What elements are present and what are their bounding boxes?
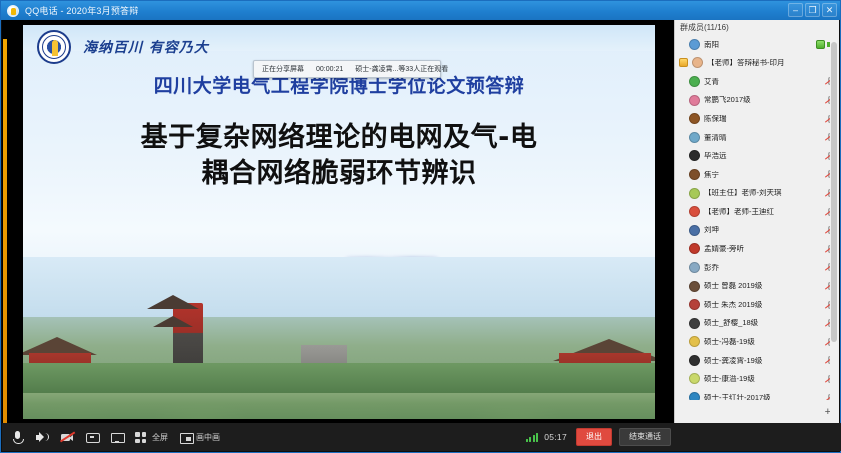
avatar: [689, 132, 700, 143]
member-name: 【老师】老师-王迪红: [704, 208, 821, 216]
avatar: [689, 262, 700, 273]
slide-title-line-2: 耦合网络脆弱环节辨识: [23, 156, 655, 192]
scrollbar-thumb[interactable]: [831, 42, 837, 342]
list-item[interactable]: 南阳: [675, 35, 839, 54]
presentation-icon: [110, 430, 124, 444]
member-name: 硕士-康溢-19级: [704, 375, 821, 383]
speaker-icon: [35, 430, 49, 444]
avatar: [689, 355, 700, 366]
list-item[interactable]: 【老师】老师-王迪红: [675, 202, 839, 221]
avatar: [689, 336, 700, 347]
member-name: 毕浩远: [704, 152, 821, 160]
exit-button[interactable]: 退出: [576, 428, 612, 446]
qq-logo-icon: [7, 5, 19, 17]
list-item[interactable]: 硕士-康溢-19级: [675, 370, 839, 389]
pip-button[interactable]: 画中画: [179, 430, 220, 444]
qq-call-window: QQ电话 - 2020年3月预答辩 – ❐ ✕ 海纳百川 有容乃大 四川大学电气…: [0, 0, 841, 453]
member-list[interactable]: 南阳【老师】答辩秘书-印月艾青常鹏飞2017级陈保瑞董清晴毕浩远焦宁【班主任】老…: [675, 35, 839, 400]
avatar: [689, 206, 700, 217]
member-list-scrollbar[interactable]: [830, 20, 838, 424]
member-name: 常鹏飞2017级: [704, 96, 821, 104]
member-name: 硕士 曾磊 2019级: [704, 282, 821, 290]
avatar: [689, 188, 700, 199]
member-name: 刘坤: [704, 226, 821, 234]
window-controls: – ❐ ✕: [788, 3, 837, 17]
screen-share-active-icon: [816, 40, 825, 49]
member-panel: 群成员(11/16) 南阳【老师】答辩秘书-印月艾青常鹏飞2017级陈保瑞董清晴…: [674, 20, 839, 424]
member-name: 焦宁: [704, 171, 821, 179]
avatar: [689, 39, 700, 50]
member-panel-header: 群成员(11/16): [675, 20, 839, 35]
avatar: [692, 57, 703, 68]
campus-photo: [23, 257, 655, 419]
call-timer: 05:17: [544, 432, 567, 442]
list-item[interactable]: 硕士_舒樱_18级: [675, 314, 839, 333]
screen-share-banner[interactable]: 正在分享屏幕 00:00:21 硕士-龚凌霄...等33人正在观看: [253, 60, 441, 78]
avatar: [689, 318, 700, 329]
list-item[interactable]: 硕士 曾磊 2019级: [675, 277, 839, 296]
camera-off-icon: [60, 430, 74, 444]
list-item[interactable]: 孟婧豪-旁听: [675, 240, 839, 259]
hangup-button[interactable]: 结束通话: [619, 428, 671, 446]
screen-share-border: [3, 39, 7, 424]
fullscreen-grid-icon: [135, 430, 149, 444]
avatar: [689, 299, 700, 310]
member-name: 硕士-王红壮-2017级: [704, 394, 821, 400]
member-name: 彭乔: [704, 264, 821, 272]
fullscreen-label: 全屏: [152, 432, 168, 443]
avatar: [689, 281, 700, 292]
member-name: 南阳: [704, 41, 812, 49]
list-item[interactable]: 董清晴: [675, 128, 839, 147]
member-name: 【老师】答辩秘书-印月: [707, 59, 835, 67]
member-name: 硕士-冯磊-19级: [704, 338, 821, 346]
list-item[interactable]: 常鹏飞2017级: [675, 91, 839, 110]
list-item[interactable]: 陈保瑞: [675, 109, 839, 128]
member-name: 【班主任】老师-刘天琪: [704, 189, 821, 197]
avatar: [689, 169, 700, 180]
maximize-button[interactable]: ❐: [805, 3, 820, 17]
member-name: 硕士-龚凌霄-19级: [704, 357, 821, 365]
list-item[interactable]: 硕士-龚凌霄-19级: [675, 351, 839, 370]
list-item[interactable]: 硕士 朱杰 2019级: [675, 295, 839, 314]
avatar: [689, 113, 700, 124]
list-item[interactable]: 刘坤: [675, 221, 839, 240]
speaker-toggle[interactable]: [35, 430, 49, 444]
member-name: 硕士 朱杰 2019级: [704, 301, 821, 309]
list-item[interactable]: 【老师】答辩秘书-印月: [675, 54, 839, 73]
list-item[interactable]: 【班主任】老师-刘天琪: [675, 184, 839, 203]
list-item[interactable]: 艾青: [675, 72, 839, 91]
list-item[interactable]: 硕士-冯磊-19级: [675, 333, 839, 352]
pip-label: 画中画: [196, 432, 220, 443]
minimize-button[interactable]: –: [788, 3, 803, 17]
window-titlebar: QQ电话 - 2020年3月预答辩 – ❐ ✕: [1, 1, 840, 20]
avatar: [689, 95, 700, 106]
list-item[interactable]: 焦宁: [675, 165, 839, 184]
avatar: [689, 392, 700, 400]
slide-title: 基于复杂网络理论的电网及气-电 耦合网络脆弱环节辨识: [23, 120, 655, 192]
avatar: [689, 150, 700, 161]
list-item[interactable]: 毕浩远: [675, 147, 839, 166]
member-name: 董清晴: [704, 134, 821, 142]
university-motto: 海纳百川 有容乃大: [83, 37, 209, 57]
university-seal-icon: [37, 30, 71, 64]
presentation-button[interactable]: [110, 430, 124, 444]
list-item[interactable]: 彭乔: [675, 258, 839, 277]
share-screen-button[interactable]: [85, 430, 99, 444]
microphone-icon: [10, 430, 24, 444]
member-panel-footer: +: [675, 400, 839, 424]
avatar: [689, 225, 700, 236]
host-badge-icon: [679, 58, 688, 67]
member-name: 硕士_舒樱_18级: [704, 319, 821, 327]
member-name: 艾青: [704, 78, 821, 86]
member-name: 孟婧豪-旁听: [704, 245, 821, 253]
close-button[interactable]: ✕: [822, 3, 837, 17]
share-elapsed-time: 00:00:21: [316, 66, 343, 73]
avatar: [689, 373, 700, 384]
window-title: QQ电话 - 2020年3月预答辩: [25, 4, 138, 17]
share-viewers-text: 硕士-龚凌霄...等33人正在观看: [355, 66, 448, 73]
share-status-text: 正在分享屏幕: [262, 66, 304, 73]
shared-slide: 海纳百川 有容乃大 四川大学电气工程学院博士学位论文预答辩 基于复杂网络理论的电…: [23, 25, 655, 419]
picture-in-picture-icon: [179, 430, 193, 444]
member-name: 陈保瑞: [704, 115, 821, 123]
avatar: [689, 243, 700, 254]
share-screen-icon: [85, 430, 99, 444]
signal-strength-icon: [526, 432, 539, 442]
list-item[interactable]: 硕士-王红壮-2017级: [675, 388, 839, 400]
call-toolbar: 全屏 画中画 05:17 退出 结束通话: [2, 423, 841, 451]
video-stage[interactable]: 海纳百川 有容乃大 四川大学电气工程学院博士学位论文预答辩 基于复杂网络理论的电…: [2, 20, 676, 424]
camera-toggle[interactable]: [60, 430, 74, 444]
avatar: [689, 76, 700, 87]
mic-toggle[interactable]: [10, 430, 24, 444]
slide-title-line-1: 基于复杂网络理论的电网及气-电: [23, 120, 655, 156]
fullscreen-button[interactable]: 全屏: [135, 430, 168, 444]
